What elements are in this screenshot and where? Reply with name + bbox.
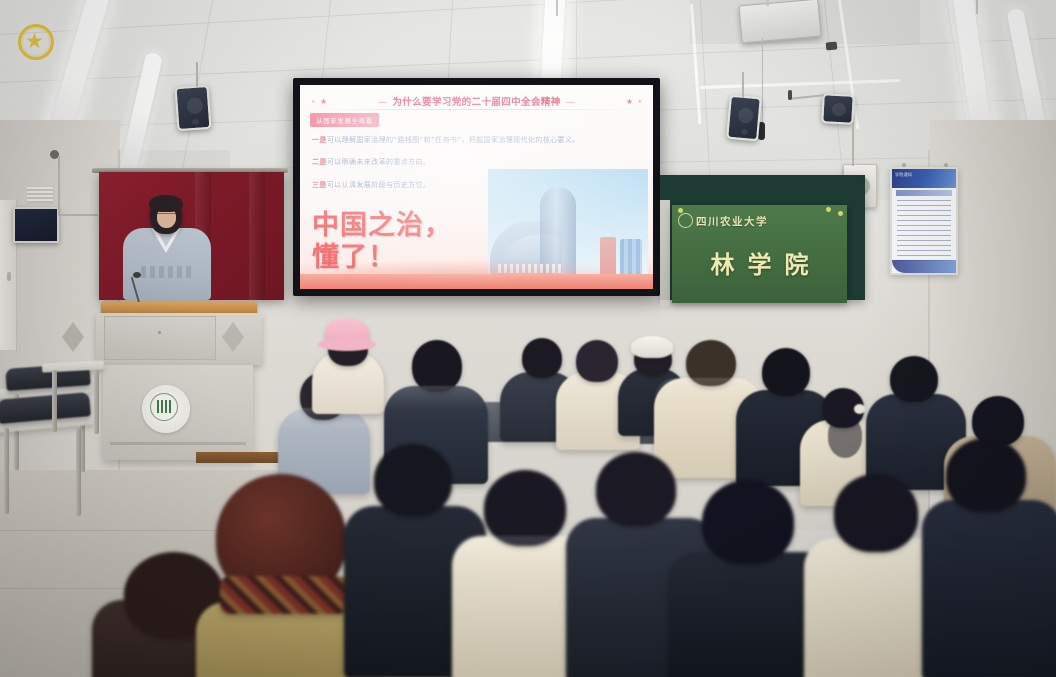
star-icon: ★ (25, 31, 44, 52)
hair-tie (854, 404, 865, 414)
presenter-hair (149, 195, 183, 212)
glasses-icon (157, 213, 176, 219)
slide-bullet-2-text: 可以明确未来改革的重点方向。 (327, 158, 431, 166)
wall-vent (26, 186, 54, 204)
slide-title-dash-right: — (561, 97, 581, 108)
banner-university-name: 四川农业大学 (696, 214, 768, 229)
slide-tag-badge: 从国家发展全局看 (310, 113, 379, 127)
presentation-slide: ★ ★ ★ ★ —为什么要学习党的二十届四中全会精神— 从国家发展全局看 一是可… (300, 85, 653, 289)
slide-bullet-2-num: 二是 (312, 158, 327, 166)
banner-college-name: 林学院 (672, 245, 847, 280)
poster-header: 学院通知 (892, 169, 956, 188)
slide-title-dash-left: — (372, 97, 392, 108)
slide-bullet-1-num: 一是 (312, 136, 327, 144)
university-logo-icon (678, 213, 693, 228)
slide-bullet-3-num: 三是 (312, 181, 327, 189)
college-banner: 四川农业大学 林学院 (672, 205, 847, 303)
slide-title: —为什么要学习党的二十届四中全会精神— (300, 94, 653, 108)
poster-body-text (897, 200, 951, 262)
slide-footer-band (300, 274, 653, 289)
door-knob[interactable] (7, 272, 11, 281)
podium-groove (110, 442, 246, 445)
podium-dot (158, 331, 161, 334)
wall-speaker (175, 85, 212, 131)
banner-strap (660, 200, 670, 306)
podium-upper-face (104, 316, 216, 360)
slide-bullet-2: 二是可以明确未来改革的重点方向。 (312, 157, 430, 167)
presenter-sweater-text (141, 266, 195, 278)
university-crest-mark (157, 400, 171, 413)
wall-monitor (13, 207, 59, 243)
title-divider (314, 109, 639, 110)
projection-screen: ★ ★ ★ ★ —为什么要学习党的二十届四中全会精神— 从国家发展全局看 一是可… (293, 78, 660, 296)
lecture-hall-photo: ★ ★ ★ ★ —为什么要学习党的二十届四中全会精神— 从国家发展全局看 一是可… (0, 0, 1056, 677)
wall-speaker (726, 95, 762, 142)
slide-bullet-3: 三是可以认清发展阶段与历史方位。 (312, 180, 430, 190)
white-cap (631, 336, 673, 358)
slide-title-text: 为什么要学习党的二十届四中全会精神 (392, 97, 560, 108)
wall-speaker (821, 93, 855, 125)
microphone-icon (133, 272, 141, 278)
slide-bullet-1-text: 可以理解国家治理的“路线图”和“任务书”，把握国家治理现代化的核心要义。 (327, 136, 580, 144)
poster-subheader (896, 190, 952, 196)
wall-poster: 学院通知 (890, 167, 958, 275)
poster-footer (892, 260, 956, 273)
poster-title: 学院通知 (895, 172, 912, 178)
slide-bullet-3-text: 可以认清发展阶段与历史方位。 (327, 181, 431, 189)
projector (738, 0, 821, 43)
slide-bullet-1: 一是可以理解国家治理的“路线图”和“任务书”，把握国家治理现代化的核心要义。 (312, 135, 580, 145)
